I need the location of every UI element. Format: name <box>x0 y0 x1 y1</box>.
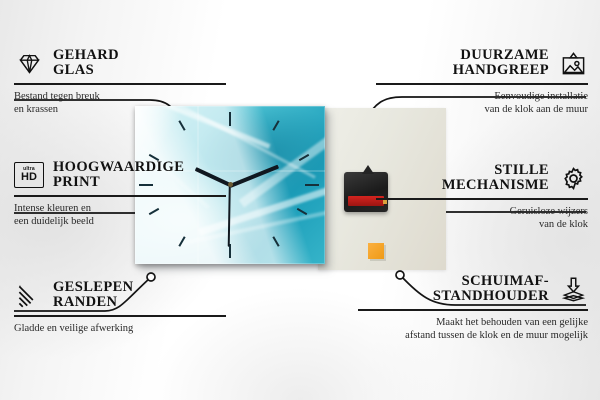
feature-desc-line2: een duidelijk beeld <box>14 215 226 228</box>
feature-title-line2: STANDHOUDER <box>433 289 549 304</box>
ultra-hd-badge-main: HD <box>21 172 37 183</box>
diamond-icon <box>14 48 44 78</box>
gear-icon <box>558 163 588 193</box>
feature-desc-line2: afstand tussen de klok en de muur mogeli… <box>358 329 588 342</box>
feature-title-line2: GLAS <box>53 63 119 78</box>
feature-desc-line1: Geruisloze wijzers <box>376 205 588 218</box>
feature-rule <box>14 195 226 197</box>
clock-hand-cap <box>228 182 233 187</box>
feature-title-line1: STILLE <box>442 163 549 178</box>
feature-desc-line2: van de klok aan de muur <box>376 103 588 116</box>
feature-title-line1: DUURZAME <box>453 48 549 63</box>
feature-schuimafstandhouder: SCHUIMAF- STANDHOUDER Maakt het behouden… <box>358 274 588 342</box>
feature-duurzame-handgreep: DUURZAME HANDGREEP Eenvoudige installati… <box>376 48 588 116</box>
feature-rule <box>14 315 226 317</box>
feature-rule <box>358 309 588 311</box>
foam-spacer-pad <box>368 243 384 259</box>
feature-desc-line2: van de klok <box>376 218 588 231</box>
feature-title-line1: GEHARD <box>53 48 119 63</box>
feature-title-line1: GESLEPEN <box>53 280 134 295</box>
feature-title-line2: RANDEN <box>53 295 134 310</box>
feature-desc-line1: Gladde en veilige afwerking <box>14 322 226 335</box>
feature-hoogwaardige-print: ultra HD HOOGWAARDIGE PRINT Intense kleu… <box>14 160 226 228</box>
foam-spacer-icon <box>558 274 588 304</box>
feature-geslepen-randen: GESLEPEN RANDEN Gladde en veilige afwerk… <box>14 280 226 335</box>
feature-rule <box>376 83 588 85</box>
picture-frame-icon <box>558 48 588 78</box>
feature-gehard-glas: GEHARD GLAS Bestand tegen breuk en krass… <box>14 48 226 116</box>
feature-title-line1: HOOGWAARDIGE <box>53 160 184 175</box>
feature-rule <box>14 83 226 85</box>
feature-desc-line1: Eenvoudige installatie <box>376 90 588 103</box>
clock-second-hand <box>228 185 231 247</box>
feature-title-line2: PRINT <box>53 175 184 190</box>
feature-rule <box>376 198 588 200</box>
ultra-hd-icon: ultra HD <box>14 160 44 190</box>
feature-desc-line1: Bestand tegen breuk <box>14 90 226 103</box>
feature-desc-line1: Maakt het behouden van een gelijke <box>358 316 588 329</box>
feature-stille-mechanisme: STILLE MECHANISME Geruisloze wijzers van… <box>376 163 588 231</box>
feature-title-line1: SCHUIMAF- <box>433 274 549 289</box>
feature-desc-line1: Intense kleuren en <box>14 202 226 215</box>
ground-edges-icon <box>14 280 44 310</box>
feature-title-line2: MECHANISME <box>442 178 549 193</box>
feature-title-line2: HANDGREEP <box>453 63 549 78</box>
feature-desc-line2: en krassen <box>14 103 226 116</box>
infographic-canvas: GEHARD GLAS Bestand tegen breuk en krass… <box>0 0 600 400</box>
